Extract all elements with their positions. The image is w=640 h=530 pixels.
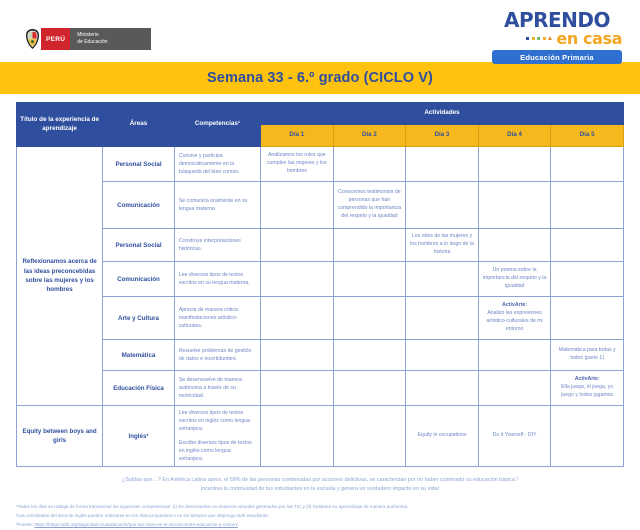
area-cell: Comunicación	[103, 182, 175, 229]
peru-coat-of-arms-icon	[24, 28, 41, 50]
activity-cell-day-1[interactable]: Analizamos los roles que cumplen las muj…	[261, 147, 334, 182]
empty-cell-day-1	[261, 229, 334, 262]
table-row: MatemáticaResuelve problemas de gestión …	[17, 340, 624, 371]
table-row: Reflexionamos acerca de las ideas precon…	[17, 147, 624, 182]
empty-cell-day-3	[406, 297, 479, 340]
ministry-line-2: de Educación	[77, 39, 143, 46]
empty-cell-day-4	[478, 371, 551, 406]
table-head: Título de la experiencia de aprendizaje …	[17, 103, 624, 147]
activity-cell-day-4[interactable]: Do it Yourself - DIY	[478, 406, 551, 467]
ministry-name: Ministerio de Educación	[70, 28, 151, 50]
competency-text: Convive y participa democráticamente en …	[179, 152, 256, 176]
header-areas: Áreas	[103, 103, 175, 147]
aprendo-en-casa-logo: APRENDO en casa Educación Primaria	[492, 10, 622, 64]
activity-cell-day-4[interactable]: Un poema sobre la importancia del respet…	[478, 262, 551, 297]
empty-cell-day-4	[478, 229, 551, 262]
empty-cell-day-1	[261, 406, 334, 467]
empty-cell-day-1	[261, 340, 334, 371]
experience-title-cell: Reflexionamos acerca de las ideas precon…	[17, 147, 103, 406]
activity-text: Analizo las expresiones artístico-cultur…	[486, 310, 542, 332]
area-cell: Inglés²	[103, 406, 175, 467]
empty-cell-day-4	[478, 147, 551, 182]
table-row: Equity between boys and girlsInglés²Lee …	[17, 406, 624, 467]
footnote-3: ³Fuente: https://blogs.iadb.org/segurida…	[16, 521, 624, 530]
competency-text: Lee diversos tipos de textos escritos en…	[179, 409, 256, 433]
activity-cell-day-3[interactable]: Equity in occupations	[406, 406, 479, 467]
experience-title-cell: Equity between boys and girls	[17, 406, 103, 467]
activity-label: ActivArte:	[482, 302, 548, 310]
header-day-2: Día 2	[333, 125, 406, 147]
empty-cell-day-2	[333, 297, 406, 340]
competency-text: Aprecia de manera crítica manifestacione…	[179, 306, 256, 330]
empty-cell-day-1	[261, 371, 334, 406]
competency-cell: Se desenvuelve de manera autónoma a trav…	[174, 371, 260, 406]
empty-cell-day-3	[406, 262, 479, 297]
activity-label: ActivArte:	[554, 376, 620, 384]
did-you-know-line-2: incentiva la continuidad de tus estudian…	[16, 485, 624, 494]
competency-text: Se comunica oralmente en su lengua mater…	[179, 197, 256, 213]
empty-cell-day-1	[261, 262, 334, 297]
empty-cell-day-5	[551, 297, 624, 340]
empty-cell-day-3	[406, 182, 479, 229]
did-you-know-line-1: ¿Sabías que…? En América Latina aprox. e…	[16, 476, 624, 485]
header-day-3: Día 3	[406, 125, 479, 147]
empty-cell-day-5	[551, 406, 624, 467]
area-cell: Matemática	[103, 340, 175, 371]
activity-cell-day-3[interactable]: Los roles de las mujeres y los hombres a…	[406, 229, 479, 262]
competency-text: Lee diversos tipos de textos escritos en…	[179, 271, 256, 287]
table-row: Arte y CulturaAprecia de manera crítica …	[17, 297, 624, 340]
schedule-table-container: Título de la experiencia de aprendizaje …	[0, 94, 640, 467]
empty-cell-day-1	[261, 297, 334, 340]
activity-cell-day-5[interactable]: ActivArte:Ella juega, él juega, yo juego…	[551, 371, 624, 406]
table-row: ComunicaciónSe comunica oralmente en su …	[17, 182, 624, 229]
empty-cell-day-5	[551, 147, 624, 182]
table-row: ComunicaciónLee diversos tipos de textos…	[17, 262, 624, 297]
header-day-1: Día 1	[261, 125, 334, 147]
header-activities: Actividades	[261, 103, 624, 125]
competency-cell: Convive y participa democráticamente en …	[174, 147, 260, 182]
empty-cell-day-3	[406, 147, 479, 182]
brand-encasa-text: en casa	[556, 31, 622, 47]
competency-text: Construye interpretaciones históricas.	[179, 237, 256, 253]
competency-cell: Construye interpretaciones históricas.	[174, 229, 260, 262]
empty-cell-day-4	[478, 182, 551, 229]
competency-text: Resuelve problemas de gestión de datos e…	[179, 347, 256, 363]
competency-text: Escribe diversos tipos de textos en ingl…	[179, 439, 256, 463]
top-header-bar: PERÚ Ministerio de Educación APRENDO en …	[0, 0, 640, 62]
page-root: PERÚ Ministerio de Educación APRENDO en …	[0, 0, 640, 450]
ministry-line-1: Ministerio	[77, 32, 143, 39]
area-cell: Personal Social	[103, 147, 175, 182]
competency-cell: Lee diversos tipos de textos escritos en…	[174, 262, 260, 297]
empty-cell-day-2	[333, 229, 406, 262]
brand-level-badge: Educación Primaria	[492, 50, 622, 64]
empty-cell-day-3	[406, 371, 479, 406]
area-cell: Comunicación	[103, 262, 175, 297]
empty-cell-day-4	[478, 340, 551, 371]
empty-cell-day-2	[333, 406, 406, 467]
empty-cell-day-2	[333, 371, 406, 406]
empty-cell-day-2	[333, 340, 406, 371]
area-cell: Arte y Cultura	[103, 297, 175, 340]
header-day-5: Día 5	[551, 125, 624, 147]
brand-second-line: en casa	[492, 31, 622, 47]
table-row: Personal SocialConstruye interpretacione…	[17, 229, 624, 262]
brand-aprendo-text: APRENDO	[492, 10, 622, 30]
area-cell: Educación Física	[103, 371, 175, 406]
header-day-4: Día 4	[478, 125, 551, 147]
header-experience: Título de la experiencia de aprendizaje	[17, 103, 103, 147]
competency-cell: Lee diversos tipos de textos escritos en…	[174, 406, 260, 467]
weekly-schedule-table: Título de la experiencia de aprendizaje …	[16, 102, 624, 467]
table-row: Educación FísicaSe desenvuelve de manera…	[17, 371, 624, 406]
empty-cell-day-3	[406, 340, 479, 371]
table-body: Reflexionamos acerca de las ideas precon…	[17, 147, 624, 467]
footnote-3-link[interactable]: https://blogs.iadb.org/seguridad-ciudada…	[34, 522, 238, 527]
competency-cell: Se comunica oralmente en su lengua mater…	[174, 182, 260, 229]
area-cell: Personal Social	[103, 229, 175, 262]
footnote-2: ²Las actividades del área de inglés pued…	[16, 512, 624, 521]
empty-cell-day-5	[551, 182, 624, 229]
header-competencies: Competencias¹	[174, 103, 260, 147]
did-you-know-note: ¿Sabías que…? En América Latina aprox. e…	[16, 476, 624, 495]
empty-cell-day-2	[333, 147, 406, 182]
footnote-1: ¹Todos los días se trabaja de forma tran…	[16, 503, 624, 512]
activity-text: Ella juega, él juega, yo juego y todos j…	[561, 384, 613, 398]
page-title: Semana 33 - 6.º grado (CICLO V)	[207, 70, 433, 86]
competency-cell: Resuelve problemas de gestión de datos e…	[174, 340, 260, 371]
empty-cell-day-1	[261, 182, 334, 229]
ministry-logo: PERÚ Ministerio de Educación	[24, 28, 151, 50]
activity-cell-day-5[interactable]: Matemática para todas y todos (parte 1)	[551, 340, 624, 371]
footnote-3-label: ³Fuente:	[16, 522, 34, 527]
empty-cell-day-5	[551, 229, 624, 262]
competency-text: Se desenvuelve de manera autónoma a trav…	[179, 376, 256, 400]
activity-cell-day-2[interactable]: Conocemos testimonios de personas que ha…	[333, 182, 406, 229]
empty-cell-day-2	[333, 262, 406, 297]
table-head-row-1: Título de la experiencia de aprendizaje …	[17, 103, 624, 125]
activity-cell-day-4[interactable]: ActivArte:Analizo las expresiones artíst…	[478, 297, 551, 340]
peru-label: PERÚ	[41, 28, 70, 50]
footnotes: ¹Todos los días se trabaja de forma tran…	[16, 503, 624, 530]
week-title-bar: Semana 33 - 6.º grado (CICLO V)	[0, 62, 640, 94]
decorative-dots-icon	[526, 36, 552, 42]
empty-cell-day-5	[551, 262, 624, 297]
competency-cell: Aprecia de manera crítica manifestacione…	[174, 297, 260, 340]
